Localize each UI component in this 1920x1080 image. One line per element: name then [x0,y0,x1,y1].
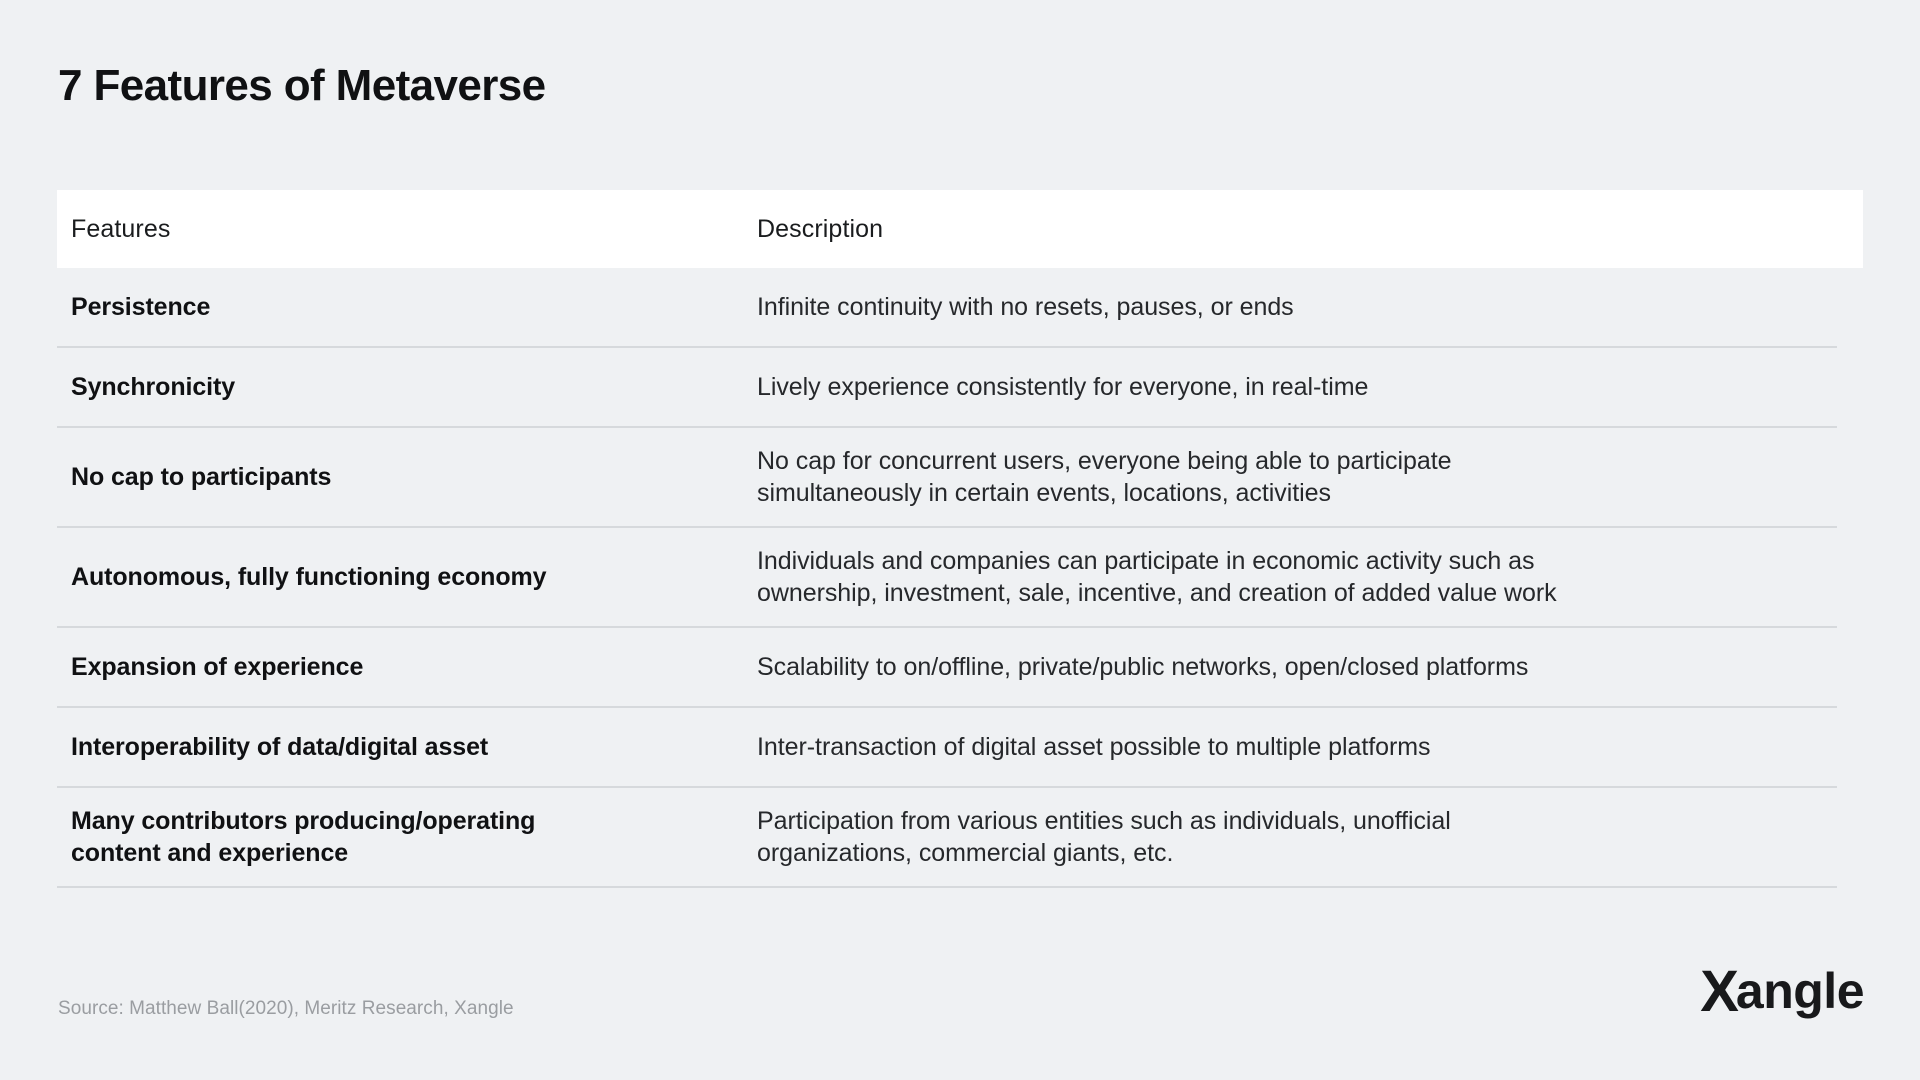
cell-description: Inter-transaction of digital asset possi… [757,731,1837,763]
page-title: 7 Features of Metaverse [58,62,546,110]
description-line: Inter-transaction of digital asset possi… [757,731,1813,763]
table-row: Autonomous, fully functioning economy In… [57,528,1837,628]
description-line: No cap for concurrent users, everyone be… [757,445,1813,477]
description-line: Infinite continuity with no resets, paus… [757,291,1813,323]
table-row: Many contributors producing/operating co… [57,788,1837,888]
feature-line: Many contributors producing/operating [71,805,733,837]
table-row: Synchronicity Lively experience consiste… [57,348,1837,428]
feature-line: Persistence [71,291,733,323]
feature-line: Interoperability of data/digital asset [71,731,733,763]
cell-description: No cap for concurrent users, everyone be… [757,445,1837,509]
xangle-wordmark: angle [1736,966,1864,1016]
description-line: organizations, commercial giants, etc. [757,837,1813,869]
cell-feature: Synchronicity [57,371,757,403]
cell-feature: Many contributors producing/operating co… [57,805,757,869]
cell-feature: Persistence [57,291,757,323]
column-header-features: Features [57,215,757,244]
description-line: Lively experience consistently for every… [757,371,1813,403]
cell-description: Lively experience consistently for every… [757,371,1837,403]
cell-feature: Expansion of experience [57,651,757,683]
xangle-logo: Xangle [1700,960,1864,1018]
cell-feature: Interoperability of data/digital asset [57,731,757,763]
xangle-x-mark: X [1700,963,1736,1021]
feature-line: Expansion of experience [71,651,733,683]
cell-description: Scalability to on/offline, private/publi… [757,651,1837,683]
cell-description: Infinite continuity with no resets, paus… [757,291,1837,323]
source-note: Source: Matthew Ball(2020), Meritz Resea… [58,998,514,1020]
table-row: Persistence Infinite continuity with no … [57,268,1837,348]
feature-line: content and experience [71,837,733,869]
description-line: simultaneously in certain events, locati… [757,477,1813,509]
description-line: Participation from various entities such… [757,805,1813,837]
feature-line: No cap to participants [71,461,733,493]
description-line: Individuals and companies can participat… [757,545,1813,577]
table-header-row: Features Description [57,190,1863,268]
slide-root: 7 Features of Metaverse Features Descrip… [0,0,1920,1080]
description-line: ownership, investment, sale, incentive, … [757,577,1813,609]
feature-line: Synchronicity [71,371,733,403]
description-line: Scalability to on/offline, private/publi… [757,651,1813,683]
table-row: Interoperability of data/digital asset I… [57,708,1837,788]
features-table: Features Description Persistence Infinit… [57,190,1863,888]
column-header-description: Description [757,215,1863,244]
table-row: No cap to participants No cap for concur… [57,428,1837,528]
table-row: Expansion of experience Scalability to o… [57,628,1837,708]
feature-line: Autonomous, fully functioning economy [71,561,733,593]
cell-description: Individuals and companies can participat… [757,545,1837,609]
table-body: Persistence Infinite continuity with no … [57,268,1837,888]
cell-description: Participation from various entities such… [757,805,1837,869]
cell-feature: Autonomous, fully functioning economy [57,561,757,593]
cell-feature: No cap to participants [57,461,757,493]
